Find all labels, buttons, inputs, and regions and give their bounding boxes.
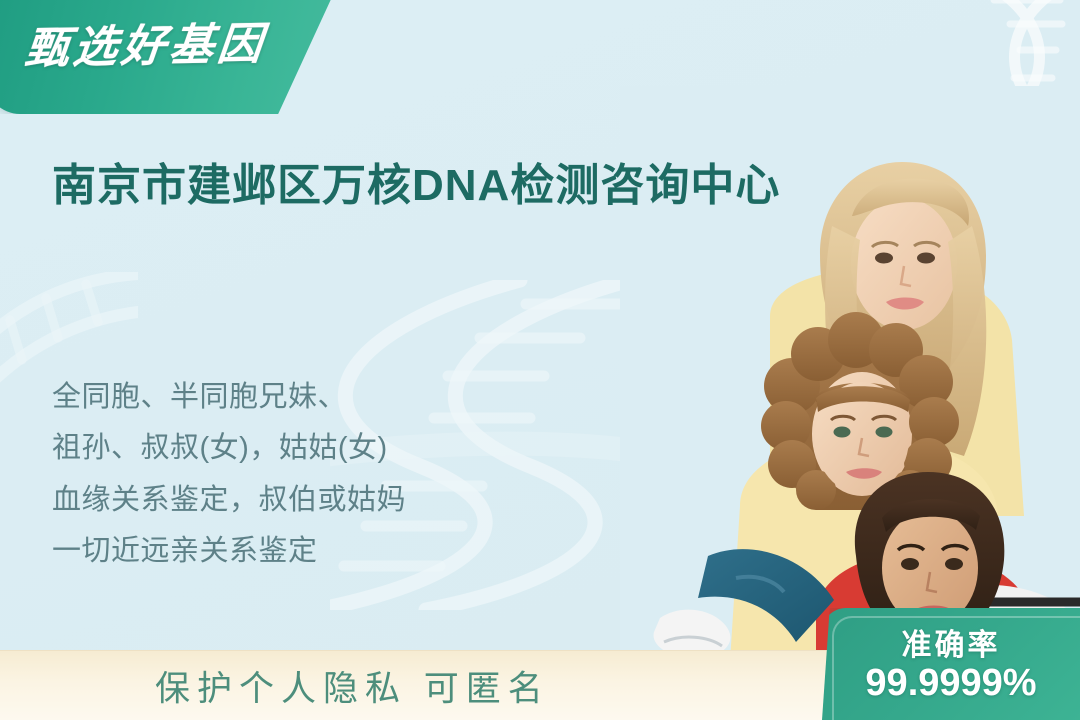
accuracy-value: 99.9999% bbox=[822, 662, 1080, 705]
brand-logo-banner: 甄选好基因 bbox=[0, 0, 338, 114]
page-title: 南京市建邺区万核DNA检测咨询中心 bbox=[52, 158, 832, 214]
service-description: 全同胞、半同胞兄妹、 祖孙、叔叔(女)，姑姑(女) 血缘关系鉴定，叔伯或姑妈 一… bbox=[52, 372, 612, 577]
accuracy-label: 准确率 bbox=[822, 620, 1080, 664]
service-line: 血缘关系鉴定，叔伯或姑妈 bbox=[52, 475, 612, 526]
brand-logo-text: 甄选好基因 bbox=[22, 7, 269, 76]
service-line: 一切近远亲关系鉴定 bbox=[52, 526, 612, 577]
service-line: 全同胞、半同胞兄妹、 bbox=[52, 372, 612, 423]
privacy-tagline: 保护个人隐私 可匿名 bbox=[155, 660, 550, 711]
service-line: 祖孙、叔叔(女)，姑姑(女) bbox=[52, 423, 612, 474]
accuracy-badge: 准确率 99.9999% bbox=[822, 608, 1080, 720]
promo-poster: 甄选好基因 南京市建邺区万核DNA检测咨询中心 全同胞、半同胞兄妹、 祖孙、叔叔… bbox=[0, 0, 1080, 720]
